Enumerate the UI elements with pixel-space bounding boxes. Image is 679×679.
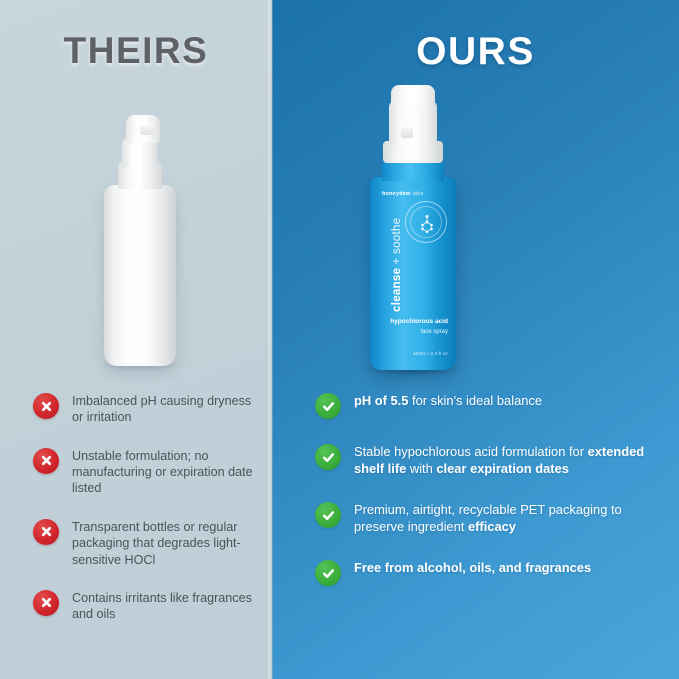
list-item: Transparent bottles or regular packaging… bbox=[33, 518, 254, 568]
x-icon bbox=[33, 393, 59, 419]
vertical-label-sub: + soothe bbox=[391, 218, 403, 265]
list-item-label: Stable hypochlorous acid formulation for… bbox=[354, 443, 653, 477]
list-item-label: Imbalanced pH causing dryness or irritat… bbox=[72, 392, 254, 426]
bottle-vertical-label: cleanse + soothe bbox=[391, 202, 403, 312]
x-icon bbox=[33, 519, 59, 545]
competitor-bottle-image bbox=[104, 113, 176, 366]
list-item-label: Transparent bottles or regular packaging… bbox=[72, 518, 254, 568]
panel-ours: OURS honeydewlabs bbox=[272, 0, 679, 679]
vertical-label-main: cleanse bbox=[391, 268, 403, 312]
bottle-spout bbox=[401, 127, 413, 138]
check-icon bbox=[315, 560, 341, 586]
bottle-pump bbox=[389, 101, 437, 145]
list-item: Stable hypochlorous acid formulation for… bbox=[315, 443, 653, 477]
product-bottle-image: honeydewlabs bbox=[370, 85, 456, 370]
bottle-body: honeydewlabs bbox=[370, 177, 456, 370]
comparison-infographic: THEIRS Imbalanced pH causing dryness or … bbox=[0, 0, 679, 679]
panel-theirs: THEIRS Imbalanced pH causing dryness or … bbox=[0, 0, 272, 679]
list-item: Free from alcohol, oils, and fragrances bbox=[315, 559, 653, 586]
panel-divider bbox=[268, 0, 273, 679]
list-item: Contains irritants like fragrances and o… bbox=[33, 589, 254, 623]
bottle-volume-label: 100ml / 3.4 fl oz bbox=[413, 351, 448, 356]
list-item-label: Unstable formulation; no manufacturing o… bbox=[72, 447, 254, 497]
product-name-label: hypochlorous acid bbox=[390, 318, 448, 326]
x-icon bbox=[33, 448, 59, 474]
list-item: Unstable formulation; no manufacturing o… bbox=[33, 447, 254, 497]
page-title-theirs: THEIRS bbox=[0, 30, 272, 72]
bottle-body bbox=[104, 185, 176, 366]
bottle-spout bbox=[140, 125, 154, 135]
list-item-label: Contains irritants like fragrances and o… bbox=[72, 589, 254, 623]
bottle-brand-label: honeydewlabs bbox=[382, 191, 423, 197]
bottle-pump-nozzle bbox=[126, 115, 160, 143]
list-item: Imbalanced pH causing dryness or irritat… bbox=[33, 392, 254, 426]
page-title-ours: OURS bbox=[272, 30, 679, 74]
x-icon bbox=[33, 590, 59, 616]
list-item-label: pH of 5.5 for skin's ideal balance bbox=[354, 392, 542, 410]
bottle-cap bbox=[391, 85, 435, 107]
list-item: pH of 5.5 for skin's ideal balance bbox=[315, 392, 653, 419]
bottle-product-description: hypochlorous acid face spray bbox=[390, 318, 448, 336]
check-icon bbox=[315, 502, 341, 528]
list-item-label: Premium, airtight, recyclable PET packag… bbox=[354, 501, 653, 535]
theirs-bullet-list: Imbalanced pH causing dryness or irritat… bbox=[0, 392, 272, 644]
list-item-label: Free from alcohol, oils, and fragrances bbox=[354, 559, 591, 577]
ours-bullet-list: pH of 5.5 for skin's ideal balance Stabl… bbox=[272, 392, 679, 610]
bottle-neck bbox=[122, 139, 158, 169]
brand-suffix: labs bbox=[413, 191, 424, 197]
check-icon bbox=[315, 444, 341, 470]
list-item: Premium, airtight, recyclable PET packag… bbox=[315, 501, 653, 535]
molecule-badge-icon bbox=[405, 201, 447, 243]
brand-name: honeydew bbox=[382, 191, 411, 197]
check-icon bbox=[315, 393, 341, 419]
product-type-label: face spray bbox=[390, 329, 448, 337]
